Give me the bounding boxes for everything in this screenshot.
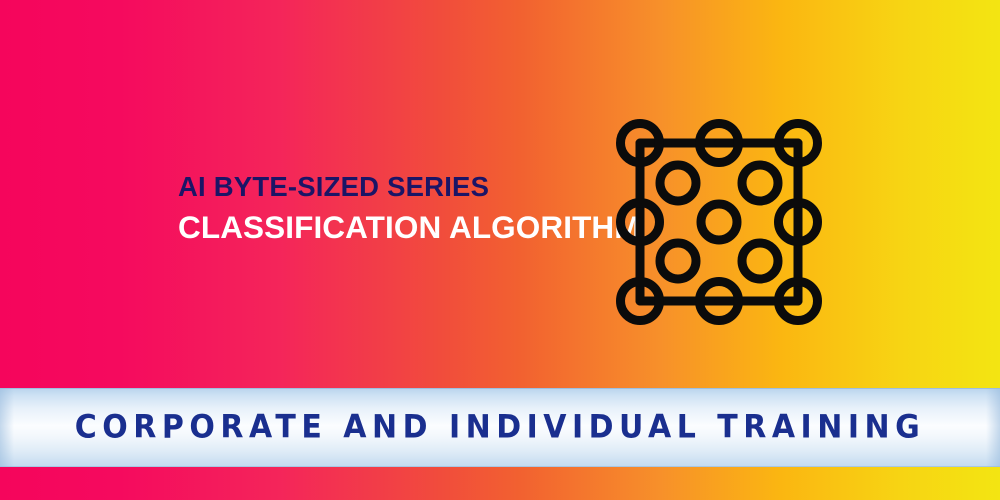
node-inner-top-right	[742, 165, 778, 201]
promo-banner: AI BYTE-SIZED SERIES CLASSIFICATION ALGO…	[0, 0, 1000, 500]
footer-strip-text: CORPORATE AND INDIVIDUAL TRAINING	[75, 409, 925, 446]
neural-network-icon	[612, 113, 830, 331]
node-inner-center	[701, 204, 737, 240]
node-inner-bottom-left	[660, 243, 696, 279]
node-inner-bottom-right	[742, 243, 778, 279]
footer-strip: CORPORATE AND INDIVIDUAL TRAINING	[0, 388, 1000, 467]
node-inner-top-left	[660, 165, 696, 201]
neural-network-svg	[612, 113, 830, 331]
